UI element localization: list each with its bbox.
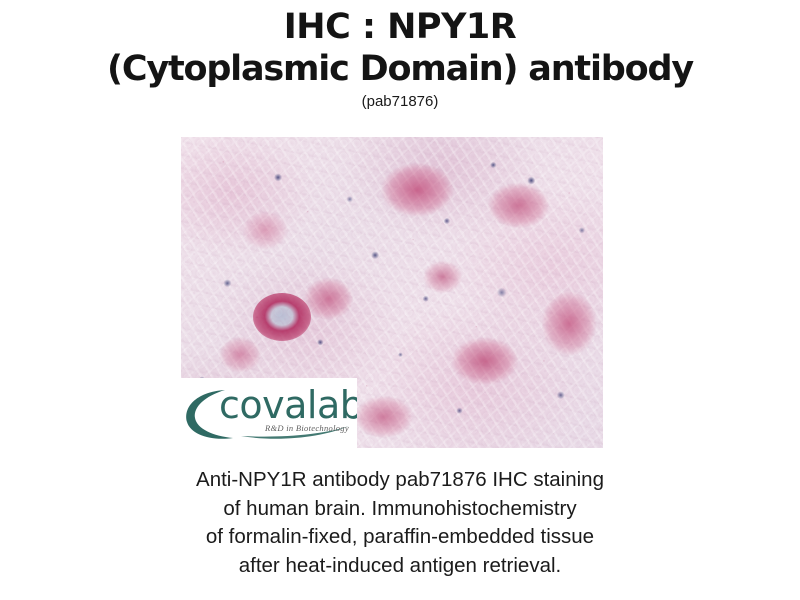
catalog-number: (pab71876) <box>0 90 800 112</box>
logo-wordmark: covalab <box>219 384 357 426</box>
logo-tagline: R&D in Biotechnology <box>265 423 349 433</box>
caption-line-1: Anti-NPY1R antibody pab71876 IHC stainin… <box>0 466 800 495</box>
title-block: IHC : NPY1R (Cytoplasmic Domain) antibod… <box>0 0 800 112</box>
covalab-logo: covalab R&D in Biotechnology <box>181 378 357 448</box>
page-title-line-1: IHC : NPY1R <box>0 0 800 48</box>
page-title-line-2: (Cytoplasmic Domain) antibody <box>0 48 800 90</box>
caption-line-2: of human brain. Immunohistochemistry <box>0 495 800 524</box>
caption-line-4: after heat-induced antigen retrieval. <box>0 552 800 581</box>
figure-caption: Anti-NPY1R antibody pab71876 IHC stainin… <box>0 466 800 580</box>
caption-line-3: of formalin-fixed, paraffin-embedded tis… <box>0 523 800 552</box>
